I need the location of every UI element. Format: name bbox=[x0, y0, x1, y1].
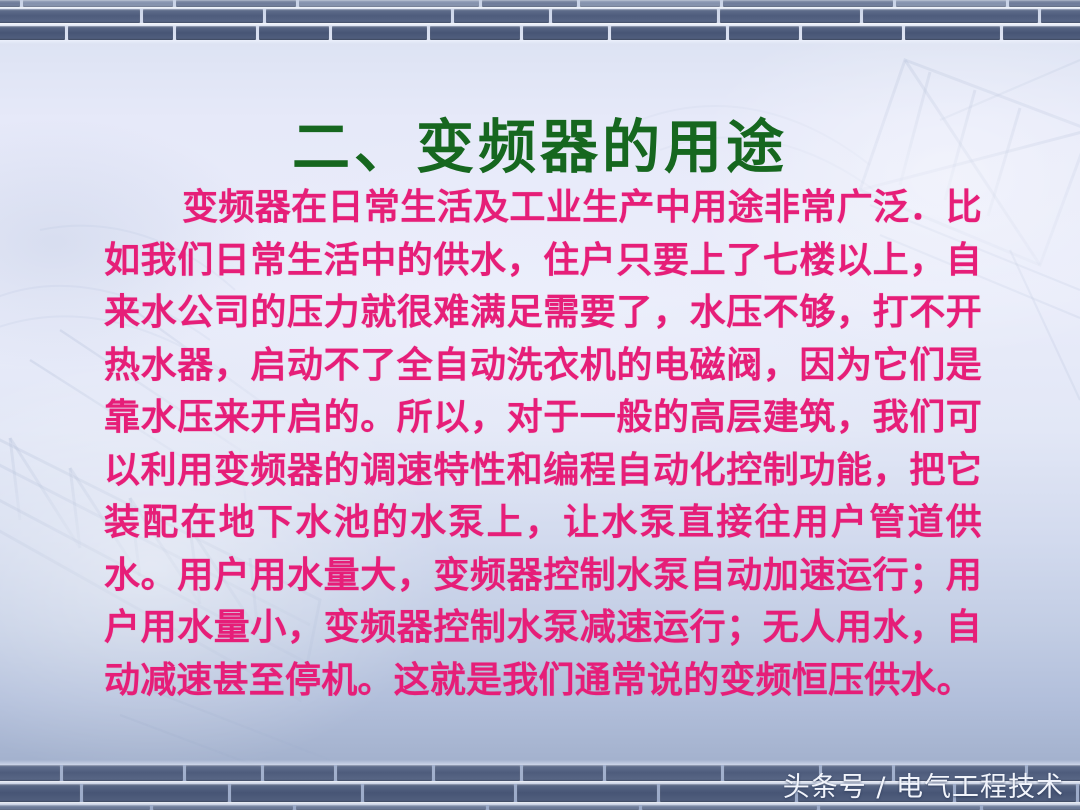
presentation-slide: 二、变频器的用途 变频器在日常生活及工业生产中用途非常广泛．比如我们日常生活中的… bbox=[0, 0, 1080, 810]
body-paragraph: 变频器在日常生活及工业生产中用途非常广泛．比如我们日常生活中的供水，住户只要上了… bbox=[104, 182, 982, 707]
channel-watermark: 头条号 / 电气工程技术 bbox=[783, 765, 1064, 804]
slide-title: 二、变频器的用途 bbox=[0, 117, 1080, 178]
slide-content: 二、变频器的用途 变频器在日常生活及工业生产中用途非常广泛．比如我们日常生活中的… bbox=[0, 0, 1080, 810]
body-text-block: 变频器在日常生活及工业生产中用途非常广泛．比如我们日常生活中的供水，住户只要上了… bbox=[104, 182, 982, 707]
